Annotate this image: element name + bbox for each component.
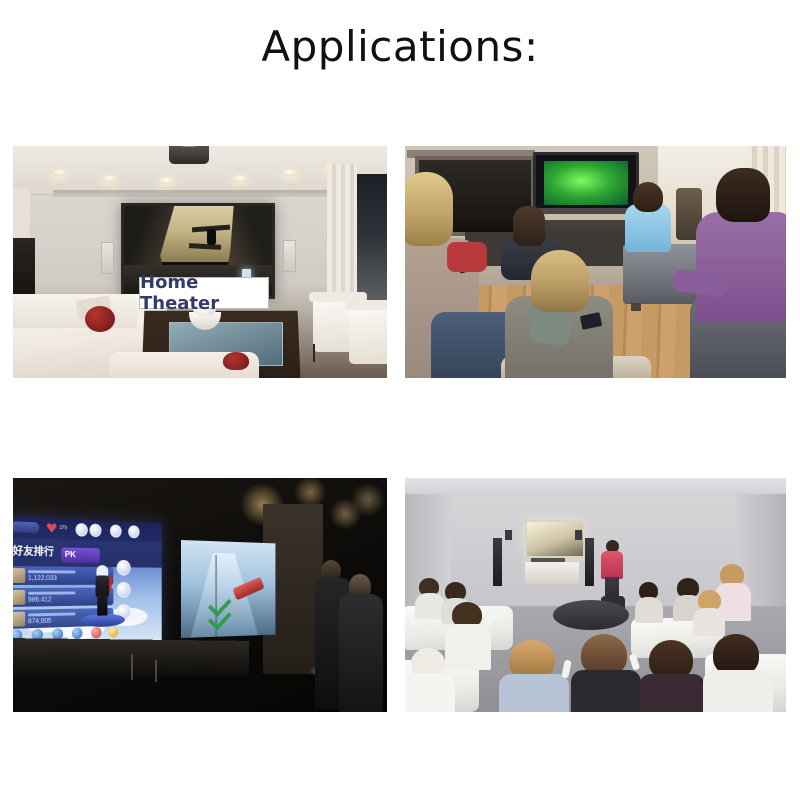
person-head (405, 172, 453, 246)
panel-training[interactable]: Training (405, 478, 786, 712)
player-avatar (13, 568, 25, 583)
downlight-icon (281, 168, 298, 176)
downlight-icon (231, 174, 248, 182)
downlight-icon (101, 174, 118, 182)
leaderboard-title: 好友排行 (13, 542, 54, 559)
attendee-body (499, 674, 569, 712)
wall-mounted-tv (533, 152, 639, 214)
ceiling-projector (169, 146, 209, 164)
floor-speaker (585, 538, 594, 586)
panel-play-game[interactable]: 379 好友排行 PK 1,122,033 986,412 (13, 478, 387, 712)
training-photo (405, 478, 786, 712)
wall-speaker (283, 240, 296, 272)
pk-badge: PK (61, 547, 100, 563)
spectator-body (339, 594, 383, 712)
page-title: Applications: (0, 22, 800, 71)
attendee (405, 648, 457, 712)
attendee-body (635, 597, 663, 623)
play-game-photo: 379 好友排行 PK 1,122,033 986,412 (13, 478, 387, 712)
presenter-shirt (601, 551, 623, 579)
red-cushion (85, 306, 115, 332)
panel-share[interactable]: Share (405, 146, 786, 378)
person-body (447, 242, 487, 272)
fireplace (13, 238, 35, 296)
game-avatar-icon (76, 523, 88, 537)
game-avatar-icon (110, 524, 122, 537)
armchair-arm (345, 300, 387, 310)
armchair (349, 304, 387, 364)
attendee (695, 590, 725, 634)
game-screen-left: 379 好友排行 PK 1,122,033 986,412 (13, 516, 162, 648)
media-console (525, 562, 579, 584)
share-photo (405, 146, 786, 378)
caption-home-theater: Home Theater (139, 277, 269, 309)
wall-speaker (101, 242, 114, 274)
attendee (637, 582, 663, 622)
game-avatar-icon (117, 560, 131, 576)
wall-nook (13, 188, 30, 240)
game-action-icon[interactable] (72, 627, 83, 639)
downlight-icon (51, 168, 68, 176)
game-avatar-icon (89, 524, 101, 538)
spectator (339, 574, 383, 712)
page-root: Applications: (0, 0, 800, 800)
armchair-leg (313, 344, 315, 362)
floor-speaker (493, 538, 502, 586)
attendee-body (405, 674, 455, 712)
player-score: 1,122,033 (28, 575, 57, 582)
pk-badge-label: PK (65, 549, 76, 559)
panel-home-theater[interactable]: Home Theater (13, 146, 387, 378)
attendee (501, 640, 563, 712)
character-legs (97, 595, 107, 616)
screen-figure (207, 229, 216, 245)
player-name-bar (28, 570, 75, 573)
attendee-body (571, 670, 641, 712)
person-head (531, 250, 589, 312)
person-head (513, 206, 545, 246)
cable (155, 660, 177, 682)
attendee-body (639, 674, 705, 712)
game-character (93, 565, 112, 616)
game-avatar-icon (117, 582, 131, 598)
downlight-icon (158, 176, 175, 184)
person-head (716, 168, 770, 222)
satellite-speaker (575, 530, 582, 540)
sofa-backrest (13, 294, 137, 328)
caption-label: Home Theater (140, 272, 268, 314)
tv-shelf (533, 208, 633, 214)
game-level-chip (13, 521, 39, 533)
round-ottoman (553, 600, 629, 630)
person-head (633, 182, 663, 212)
player-avatar (13, 590, 25, 605)
attendee-body (693, 608, 725, 636)
game-action-icon[interactable] (91, 627, 101, 639)
attendee (573, 634, 635, 712)
satellite-speaker (505, 530, 512, 540)
attendee (417, 578, 443, 618)
game-screen-right (181, 540, 275, 638)
person-body (696, 212, 786, 322)
home-theater-photo (13, 146, 387, 378)
player-avatar (13, 612, 25, 627)
player-score: 874,005 (28, 618, 52, 625)
ceiling (405, 478, 786, 494)
attendee (641, 640, 701, 712)
attendee (705, 634, 767, 712)
ceiling-soffit (53, 190, 353, 197)
attendee-body (703, 670, 773, 712)
player-name-bar (28, 592, 75, 595)
heart-count: 379 (59, 525, 67, 531)
red-cushion (223, 352, 249, 370)
game-avatar-icon (128, 525, 139, 538)
tv-screen-content (544, 161, 628, 205)
player-score: 986,412 (28, 597, 52, 604)
game-action-icon[interactable] (108, 626, 118, 637)
player-name-bar (28, 612, 75, 616)
